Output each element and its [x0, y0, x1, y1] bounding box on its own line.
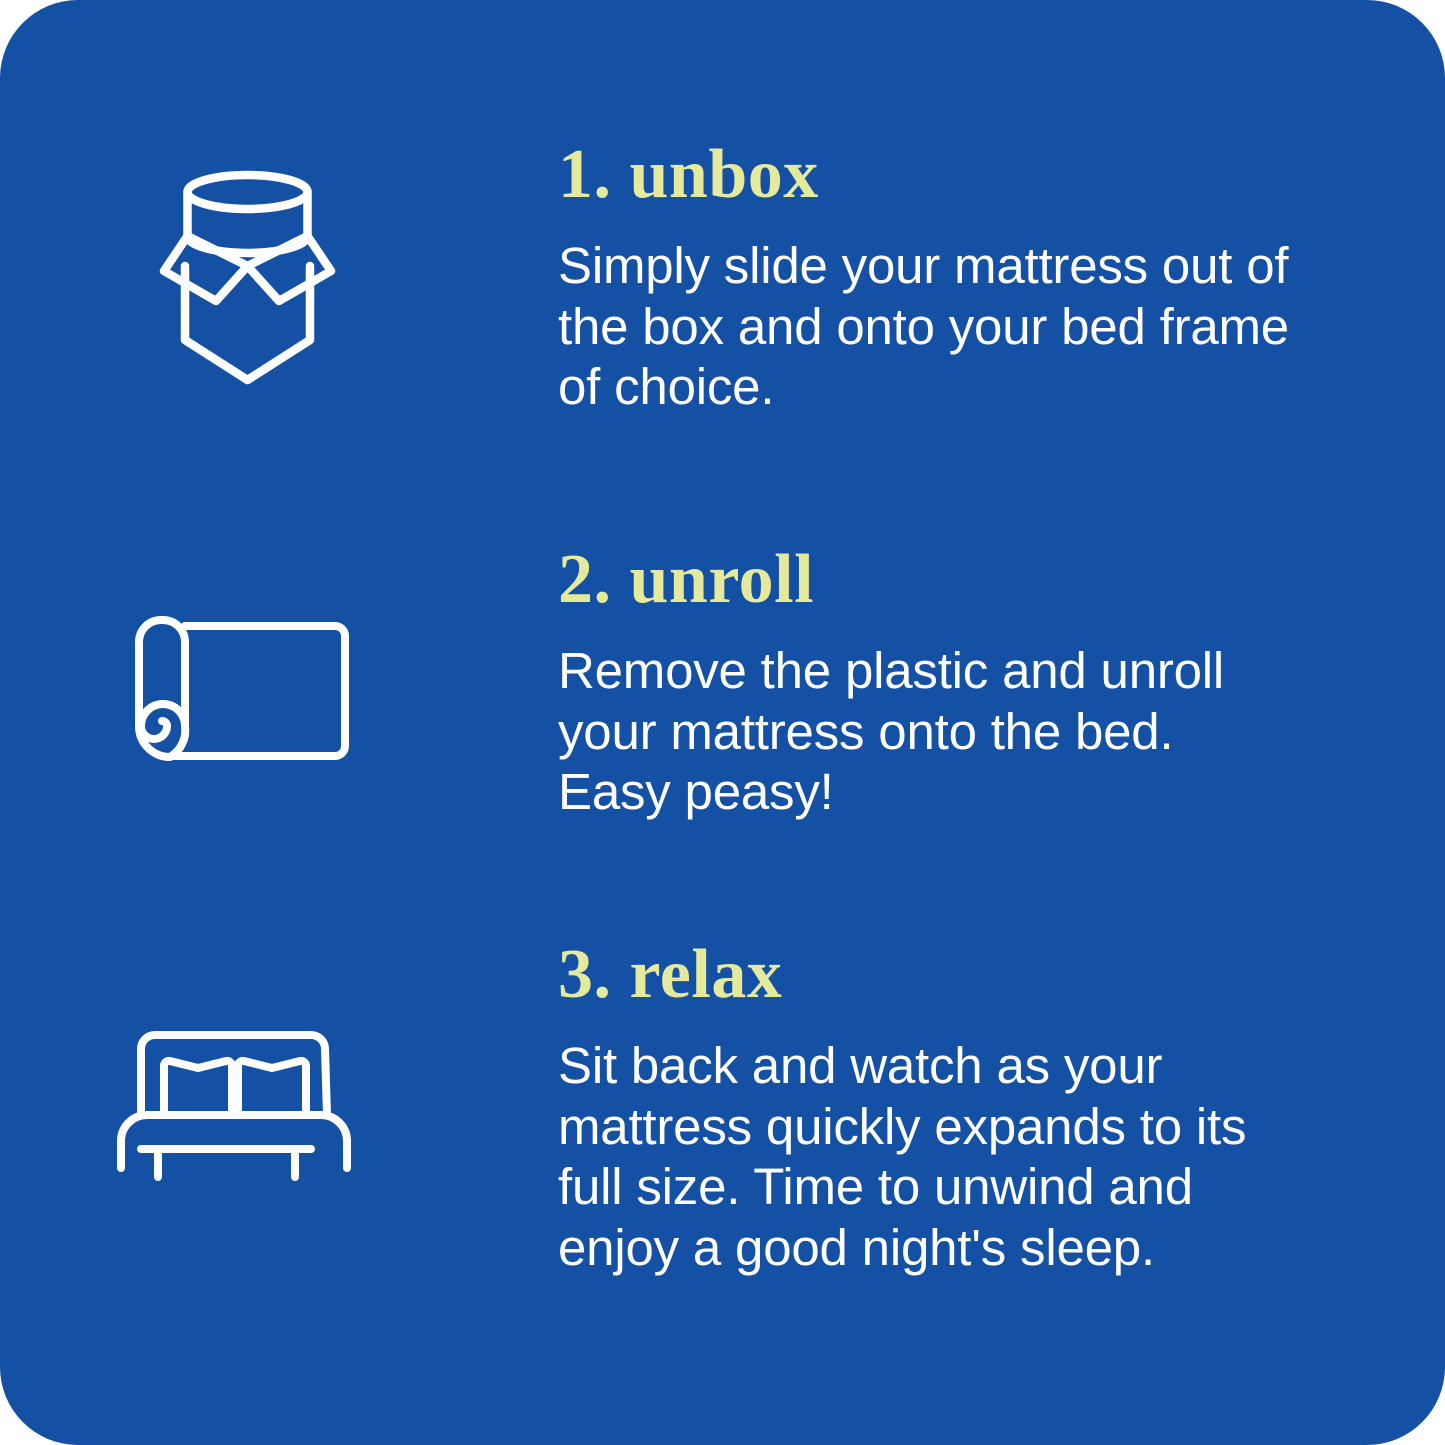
step-item-relax: 3. relax Sit back and watch as your matt… — [0, 940, 1445, 1279]
step-2-title: 2. unroll — [558, 545, 1325, 615]
steps-list: 1. unbox Simply slide your mattress out … — [0, 0, 1445, 1445]
bed-icon — [115, 1025, 385, 1190]
mattress-setup-card: 1. unbox Simply slide your mattress out … — [0, 0, 1445, 1445]
step-2-text-column: 2. unroll Remove the plastic and unroll … — [558, 545, 1445, 823]
step-3-title: 3. relax — [558, 940, 1325, 1010]
step-3-text-column: 3. relax Sit back and watch as your matt… — [558, 940, 1445, 1279]
rolled-mattress-icon — [130, 615, 360, 770]
step-1-text-column: 1. unbox Simply slide your mattress out … — [558, 140, 1445, 418]
step-item-unroll: 2. unroll Remove the plastic and unroll … — [0, 545, 1445, 823]
box-with-rolled-mattress-icon — [160, 170, 335, 385]
step-item-unbox: 1. unbox Simply slide your mattress out … — [0, 140, 1445, 418]
step-1-title: 1. unbox — [558, 140, 1325, 210]
step-2-body: Remove the plastic and unroll your mattr… — [558, 615, 1278, 823]
step-3-body: Sit back and watch as your mattress quic… — [558, 1010, 1298, 1279]
step-1-body: Simply slide your mattress out of the bo… — [558, 210, 1325, 418]
